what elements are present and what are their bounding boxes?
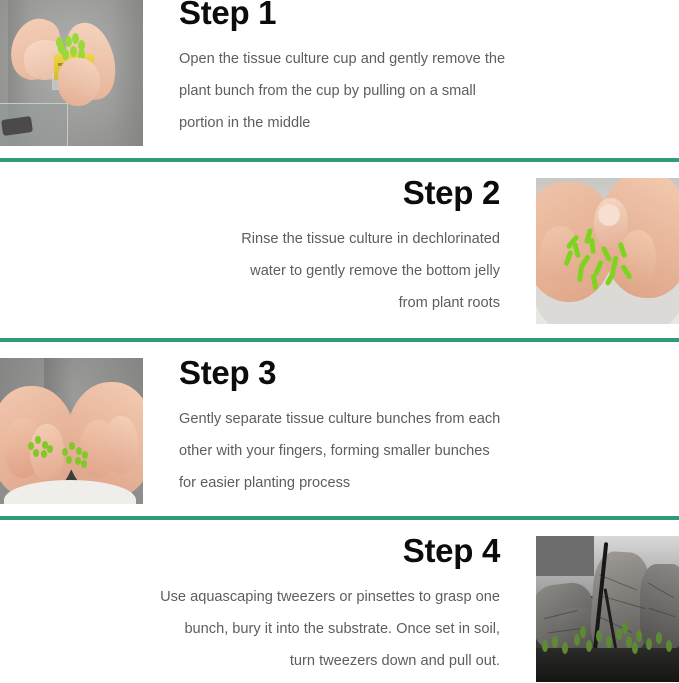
step-row-1: Step 1 Open the tissue culture cup and g… bbox=[0, 0, 679, 146]
divider-2 bbox=[0, 338, 679, 342]
divider-3 bbox=[0, 516, 679, 520]
step-1-text: Step 1 Open the tissue culture cup and g… bbox=[143, 0, 679, 139]
step-1-body: Open the tissue culture cup and gently r… bbox=[179, 43, 677, 139]
steps-infographic: Step 1 Open the tissue culture cup and g… bbox=[0, 0, 679, 683]
step-row-3: Step 3 Gently separate tissue culture bu… bbox=[0, 358, 679, 504]
step-3-title: Step 3 bbox=[179, 356, 677, 389]
divider-1 bbox=[0, 158, 679, 162]
step-2-body: Rinse the tissue culture in dechlorinate… bbox=[2, 223, 500, 319]
step-1-photo bbox=[0, 0, 143, 146]
step-4-text: Step 4 Use aquascaping tweezers or pinse… bbox=[0, 536, 536, 677]
step-4-body: Use aquascaping tweezers or pinsettes to… bbox=[2, 581, 500, 677]
step-row-4: Step 4 Use aquascaping tweezers or pinse… bbox=[0, 536, 679, 682]
step-2-text: Step 2 Rinse the tissue culture in dechl… bbox=[0, 178, 536, 319]
step-3-body: Gently separate tissue culture bunches f… bbox=[179, 403, 677, 499]
step-4-title: Step 4 bbox=[2, 534, 500, 567]
step-1-title: Step 1 bbox=[179, 0, 677, 29]
step-2-title: Step 2 bbox=[2, 176, 500, 209]
step-2-photo bbox=[536, 178, 679, 324]
step-3-photo bbox=[0, 358, 143, 504]
step-4-photo bbox=[536, 536, 679, 682]
step-row-2: Step 2 Rinse the tissue culture in dechl… bbox=[0, 178, 679, 324]
step-3-text: Step 3 Gently separate tissue culture bu… bbox=[143, 358, 679, 499]
